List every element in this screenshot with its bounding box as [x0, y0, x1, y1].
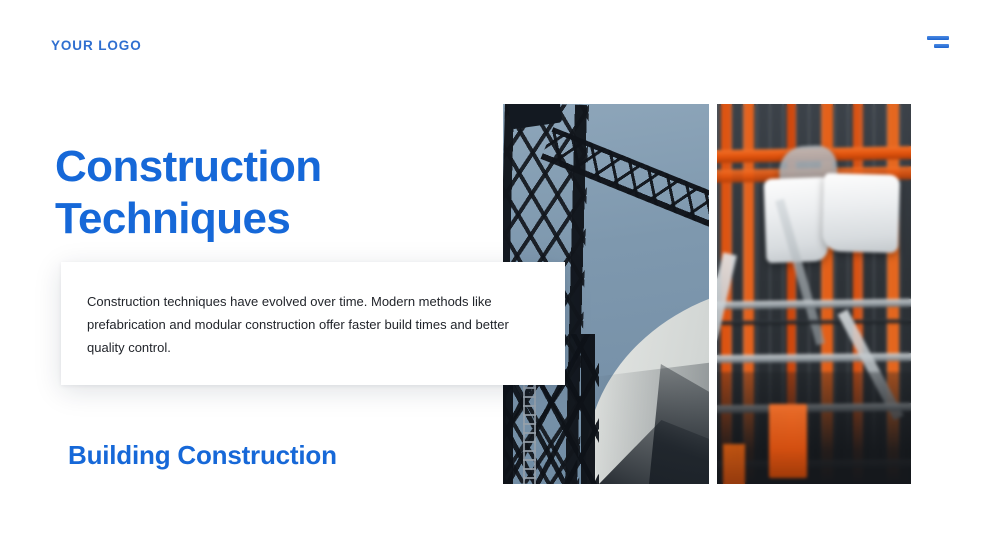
slide-canvas: YOUR LOGO Construction Techniques Constr…	[0, 0, 993, 558]
page-title-line-1: Construction	[55, 145, 485, 189]
lower-shadow	[717, 372, 911, 484]
page-header: YOUR LOGO	[0, 0, 993, 92]
orange-scaffolding-photo	[717, 104, 911, 484]
page-title: Construction Techniques	[55, 145, 485, 241]
orange-block-2	[723, 444, 745, 484]
hamburger-bar-top	[927, 36, 949, 40]
orange-scaffolding-photo-content	[717, 104, 911, 484]
hamburger-bar-bottom	[934, 44, 949, 48]
description-card: Construction techniques have evolved ove…	[61, 262, 565, 385]
white-tarp-right	[822, 173, 900, 253]
orange-block	[769, 404, 807, 478]
description-text: Construction techniques have evolved ove…	[87, 290, 532, 359]
page-title-line-2: Techniques	[55, 197, 485, 241]
logo[interactable]: YOUR LOGO	[51, 38, 142, 53]
section-subtitle: Building Construction	[68, 440, 337, 471]
hamburger-menu-icon[interactable]	[927, 36, 949, 50]
